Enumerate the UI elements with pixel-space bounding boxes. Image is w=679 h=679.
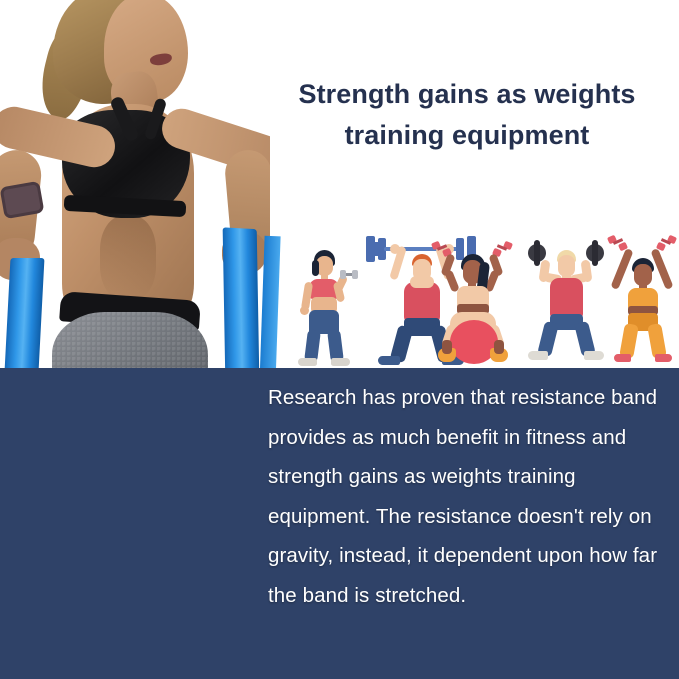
wrist-watch-icon [0, 181, 44, 219]
page-title: Strength gains as weights training equip… [258, 74, 676, 156]
figure-woman-stability-ball [430, 236, 516, 368]
dumbbell-icon [340, 270, 358, 279]
dumbbell-icon [656, 236, 676, 252]
description-text: Research has proven that resistance band… [268, 378, 676, 615]
figure-woman-dumbbell-curl [292, 250, 356, 368]
figure-man-shoulder-press [526, 238, 606, 368]
figure-woman-overhead-raise [608, 236, 678, 368]
fitness-figures-strip [278, 222, 679, 368]
product-infographic-poster: Strength gains as weights training equip… [0, 0, 679, 679]
model-abs-shading [100, 216, 156, 300]
